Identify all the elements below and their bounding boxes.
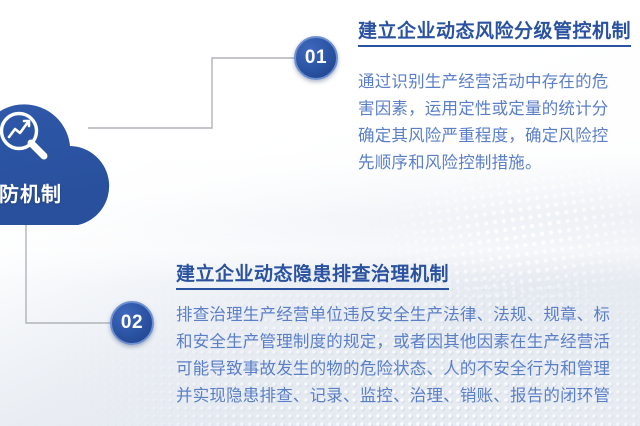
section-02-body-line: 可能导致事故发生的物的危险状态、人的不安全行为和管理 — [176, 356, 610, 383]
section-01-title: 建立企业动态风险分级管控机制 — [358, 20, 631, 47]
section-02-body-line: 并实现隐患排查、记录、监控、治理、销账、报告的闭环管 — [176, 383, 610, 410]
section-01-body-line: 通过识别生产经营活动中存在的危 — [358, 69, 631, 96]
section-01-body-line: 确定其风险严重程度，确定风险控 — [358, 123, 631, 150]
section-02-body: 排查治理生产经营单位违反安全生产法律、法规、规章、标 和安全生产管理制度的规定，… — [176, 302, 610, 410]
section-02-body-line: 排查治理生产经营单位违反安全生产法律、法规、规章、标 — [176, 302, 610, 329]
step-badge-01[interactable]: 01 — [294, 36, 338, 80]
section-01: 建立企业动态风险分级管控机制 通过识别生产经营活动中存在的危 害因素，运用定性或… — [358, 20, 631, 177]
section-02-title-wrap: 建立企业动态隐患排查治理机制 — [176, 263, 610, 290]
cloud-label: 预防机制 — [0, 178, 118, 207]
section-02: 建立企业动态隐患排查治理机制 排查治理生产经营单位违反安全生产法律、法规、规章、… — [176, 263, 610, 410]
section-02-title: 建立企业动态隐患排查治理机制 — [176, 263, 449, 290]
section-02-body-line: 和安全生产管理制度的规定，或者因其他因素在生产经营活 — [176, 329, 610, 356]
section-01-body-line: 先顺序和风险控制措施。 — [358, 150, 631, 177]
section-01-body-line: 害因素，运用定性或定量的统计分 — [358, 96, 631, 123]
cloud-shape-group: 预防机制 — [0, 86, 172, 238]
section-01-title-wrap: 建立企业动态风险分级管控机制 — [358, 20, 631, 47]
section-01-body: 通过识别生产经营活动中存在的危 害因素，运用定性或定量的统计分 确定其风险严重程… — [358, 69, 631, 177]
step-badge-02[interactable]: 02 — [110, 301, 154, 345]
slide-canvas: 预防机制 01 建立企业动态风险分级管控机制 通过识别生产经营活动中存在的危 害… — [0, 0, 640, 426]
magnifier-chart-icon — [0, 108, 52, 164]
